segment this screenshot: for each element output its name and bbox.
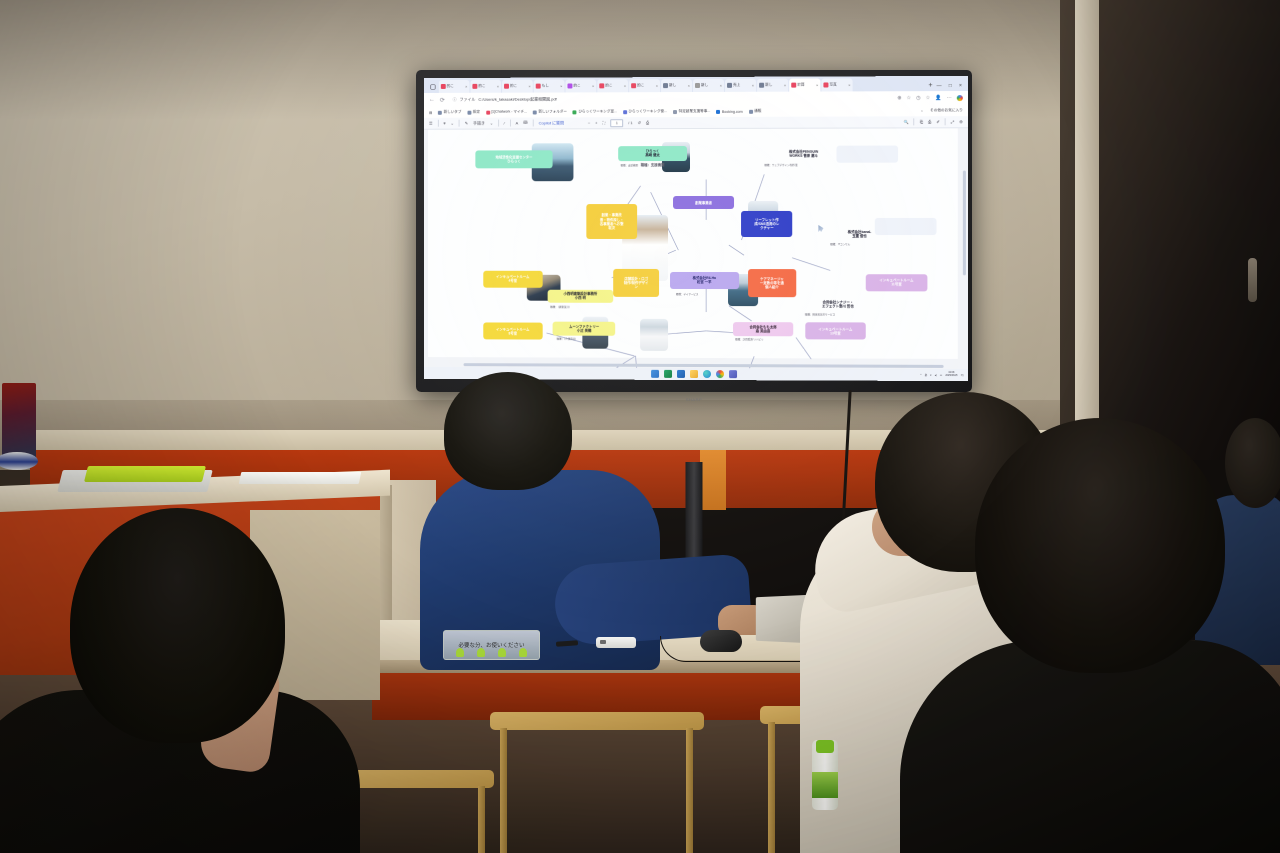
omnibar-actions: ⊕ ☆ ◷ ☆ 👤 ⋯ <box>897 95 963 101</box>
bookmark-label: 特定創業支援等事... <box>679 109 711 114</box>
bookmark-label: 新しいタブ <box>444 110 462 115</box>
explorer-icon[interactable] <box>690 370 698 378</box>
tab-favicon <box>472 84 477 89</box>
bottle-cap <box>816 740 834 753</box>
zoom-icon[interactable]: ⊕ <box>897 95 901 101</box>
diagram-node-faded-1 <box>837 145 898 162</box>
bookmark-item[interactable]: 設定 <box>467 110 480 115</box>
tab-close-icon[interactable]: × <box>465 84 467 89</box>
audience-left-head <box>70 508 285 743</box>
address-bar[interactable]: ⓘ ファイル C:/Users/k_takasaki/Desktop/起業相関図… <box>449 93 893 105</box>
remote-button[interactable] <box>600 640 606 644</box>
browser-tabs: 的こ×的こ×的こ×もし×的こ×的こ×的こ×新し×新し×売上×新し×計算×写真× <box>439 78 924 93</box>
teams-icon[interactable] <box>729 370 737 378</box>
tv-brand-mark: SHARP <box>686 397 702 402</box>
presenter-remote[interactable] <box>596 637 636 648</box>
bookmark-item[interactable]: ひらっくワーキング室... <box>573 109 617 114</box>
print-page-icon[interactable]: ⎙ <box>928 119 931 124</box>
browser-tab[interactable]: 的こ× <box>439 80 470 93</box>
window-controls: — □ × <box>937 83 968 91</box>
flyer-stand <box>2 383 36 461</box>
rotate-icon[interactable]: ↺ <box>638 120 641 125</box>
diagram-node-leaflet: リーフレット作 成/SNS活用のレ クチャー <box>742 211 793 237</box>
start-icon[interactable] <box>651 370 659 378</box>
tab-close-icon[interactable]: × <box>688 83 690 88</box>
tv-bezel: 的こ×的こ×的こ×もし×的こ×的こ×的こ×新し×新し×売上×新し×計算×写真× … <box>416 70 972 392</box>
search-icon[interactable]: 🔍 <box>904 119 909 124</box>
diagram-node-penguin-works: 株式会社PENGUIN WORKS 菅原 遼斗 <box>764 147 843 160</box>
toolbar-divider <box>945 118 946 125</box>
diagram-node-incubate-8: インキュベートルーム 8号室 <box>483 323 543 340</box>
tissue-item <box>477 648 485 657</box>
bookmark-item[interactable]: 通販 <box>749 109 762 114</box>
file-scheme-label: ファイル <box>460 97 476 103</box>
diagram-node-momotaro: 合同会社もも太郎 森 美由喜 <box>733 322 794 336</box>
chair-back <box>490 712 704 730</box>
tab-close-icon[interactable]: × <box>848 82 850 87</box>
edge-icon[interactable] <box>703 370 711 378</box>
pdf-vertical-scrollbar[interactable] <box>963 171 966 276</box>
reload-icon[interactable]: ⟳ <box>440 96 445 103</box>
tissue-item <box>498 648 506 657</box>
toolbar-divider <box>914 118 915 125</box>
browser-tab[interactable]: 的こ× <box>565 79 596 92</box>
tab-favicon <box>567 83 572 88</box>
system-tray: ^ あ ▾ ◂) ▭ 19:06 2025/06/25 🗨 <box>920 372 964 378</box>
chair-leg <box>686 728 693 853</box>
browser-tab[interactable]: 新し× <box>757 79 788 92</box>
bookmark-favicon <box>573 110 577 114</box>
browser-tab[interactable]: もし× <box>534 80 565 93</box>
bookmarks-right: › その他のお気に入り <box>921 108 963 113</box>
maximize-button[interactable]: □ <box>949 83 952 89</box>
save-icon[interactable]: ⎗ <box>920 119 923 124</box>
annotate-icon[interactable]: ✐ <box>936 119 939 124</box>
chevron-down-icon[interactable]: ⌄ <box>490 121 493 126</box>
chevron-down-icon[interactable]: ⌄ <box>451 121 454 126</box>
back-icon[interactable]: ← <box>429 96 435 103</box>
diagram-node-synergy: 合同会社シナジー・ エフェクト野川 哲也 <box>805 297 871 310</box>
taskbar-clock[interactable]: 19:06 2025/06/25 <box>945 372 957 378</box>
tab-label: 的こ <box>573 83 591 88</box>
bookmark-item[interactable]: [1]Chatwork - マイチ... <box>486 110 527 115</box>
browser-tab[interactable]: 的こ× <box>629 79 660 92</box>
doorway <box>1099 0 1280 460</box>
bookmark-label: 新しいフォルダー <box>538 109 567 114</box>
file-info-icon: ⓘ <box>453 97 457 103</box>
browser-tab[interactable]: 的こ× <box>502 80 533 93</box>
browser-tab[interactable]: 計算× <box>789 78 820 91</box>
tissue-item <box>519 648 527 657</box>
tab-close-icon[interactable]: × <box>624 83 626 88</box>
chair-leg <box>768 722 775 853</box>
bookmark-item[interactable]: 特定創業支援等事... <box>673 109 710 114</box>
bottle-label <box>812 772 838 798</box>
bookmarks-apps-icon[interactable]: ▤ <box>429 110 432 114</box>
bookmark-label: Booking.com <box>722 109 743 113</box>
ime-indicator[interactable]: あ <box>925 373 928 377</box>
bookmark-favicon <box>533 110 537 114</box>
tab-close-icon[interactable]: × <box>497 84 499 89</box>
tab-label: 的こ <box>605 83 623 88</box>
address-url: C:/Users/k_takasaki/Desktop/起業相関図.pdf <box>478 96 556 102</box>
tab-label: 新し <box>701 83 719 88</box>
bookmark-favicon <box>623 110 627 114</box>
diagram-caption: 職種：ウェブデザイン/制作業 <box>764 162 797 166</box>
tab-label: もし <box>542 84 560 89</box>
bookmark-item[interactable]: 新しいタブ <box>438 110 461 115</box>
tab-favicon <box>631 83 636 88</box>
toolbar-divider <box>498 120 499 127</box>
relationship-diagram: 地域活性化支援センター ひらっくひらっく 髙崎 健太職種：支援機関創業・事業改 … <box>428 128 958 359</box>
select-icon[interactable]: ⌖ <box>443 121 445 126</box>
tab-label: 計算 <box>797 83 815 88</box>
excel-icon[interactable] <box>664 370 672 378</box>
toolbar-divider <box>533 119 534 126</box>
tab-favicon <box>759 83 764 88</box>
highlight-icon[interactable]: ⁄ <box>504 121 505 126</box>
other-bookmarks-folder[interactable]: その他のお気に入り <box>929 108 963 113</box>
page-total-label: / 1 <box>628 120 632 125</box>
bookmark-item[interactable]: ひらっくワーキング使... <box>623 109 667 114</box>
diagram-caption: 職種：支援機関 <box>620 163 637 167</box>
draw-icon[interactable]: ✎ <box>465 121 468 126</box>
tab-label: 新し <box>669 83 687 88</box>
tab-label: 的こ <box>447 84 464 89</box>
diagram-node-logo-design: 店舗設計・ロゴ 制作/制作デザイ ン <box>613 269 660 297</box>
diagram-node-moon-factory: ムーンファクトリー 小辻 美穂 <box>553 322 616 336</box>
diagram-node-incubate-4: インキュベートルーム 4号室 <box>483 271 543 288</box>
bookmark-favicon <box>486 110 490 114</box>
browser-tab[interactable]: 写真× <box>821 78 852 91</box>
tab-favicon <box>536 84 541 89</box>
pdf-page: 地域活性化支援センター ひらっくひらっく 髙崎 健太職種：支援機関創業・事業改 … <box>428 128 958 359</box>
diagram-node-konishi: 小西明建築設計事務所 小西 明 <box>548 290 613 303</box>
tab-favicon <box>791 83 796 88</box>
tab-close-icon[interactable]: × <box>784 83 786 88</box>
diagram-caption: 職種：ITコンサル <box>830 242 850 246</box>
tissue-contents <box>450 648 533 657</box>
bookmark-star-icon[interactable]: ☆ <box>907 95 912 101</box>
collections-icon[interactable]: ◷ <box>916 95 920 101</box>
diagram-node-care-manager: ケアマネージャ 一定数の等を通 個人紹介 <box>748 269 796 297</box>
ledge-pillar <box>700 450 726 510</box>
tab-favicon <box>727 83 732 88</box>
diagram-node-hirakku-person: ひらっく 髙崎 健太 <box>618 146 687 161</box>
browser-tab[interactable]: 新し× <box>661 79 692 92</box>
browser-tab[interactable]: 的こ× <box>597 79 628 92</box>
presenter-head <box>444 372 572 490</box>
draw-label[interactable]: 手描き <box>473 120 485 126</box>
diagram-node-incubate-13: インキュベートルーム 13号室 <box>805 323 866 340</box>
diagram-caption: 職種：（介護用品） <box>557 337 578 341</box>
clock-date: 2025/06/25 <box>945 375 957 378</box>
bookmark-label: [1]Chatwork - マイチ... <box>491 110 527 115</box>
tab-close-icon[interactable]: × <box>560 84 562 89</box>
tab-label: 写真 <box>829 82 847 87</box>
tab-close-icon[interactable]: × <box>592 83 594 88</box>
bookmark-item[interactable]: Booking.com <box>716 109 742 113</box>
diagram-node-souki-consult: 創業・事業改 善・物件探し・ 各事業者へお繋 取次 <box>587 204 637 239</box>
tab-favicon <box>599 83 604 88</box>
chair-leg <box>478 786 485 853</box>
tab-close-icon[interactable]: × <box>752 83 754 88</box>
settings-icon[interactable]: ⚙ <box>959 119 963 124</box>
other-bookmarks-label: その他のお気に入り <box>930 108 963 113</box>
minimize-button[interactable]: — <box>937 83 942 89</box>
nav-buttons: ← ⟳ <box>429 96 445 103</box>
tab-favicon <box>441 84 446 89</box>
diagram-caption: 職種：デイサービス <box>676 292 699 296</box>
tab-favicon <box>663 83 668 88</box>
audience-right-head <box>975 418 1225 673</box>
presentation-display: 的こ×的こ×的こ×もし×的こ×的こ×的こ×新し×新し×売上×新し×計算×写真× … <box>416 70 972 392</box>
notification-icon[interactable]: 🗨 <box>961 374 964 377</box>
bookmark-label: 通販 <box>754 109 761 114</box>
read-aloud-icon[interactable]: 🕮 <box>523 119 528 126</box>
tab-close-icon[interactable]: × <box>720 83 722 88</box>
door-handle <box>1248 258 1257 302</box>
favorites-icon[interactable]: ☆ <box>926 95 931 101</box>
bookmark-items: 新しいタブ設定[1]Chatwork - マイチ...新しいフォルダーひらっくワ… <box>438 108 915 115</box>
browser-tab[interactable]: 的こ× <box>470 80 501 93</box>
bookmark-label: ひらっくワーキング使... <box>628 109 667 114</box>
word-icon[interactable] <box>677 370 685 378</box>
photo-momotaro <box>640 319 668 351</box>
fit-page-icon[interactable]: ⛶ <box>603 120 606 125</box>
profile-avatar-icon[interactable]: 👤 <box>935 95 941 101</box>
toolbar-divider <box>510 120 511 127</box>
tissue-box: 必要な分、お使いください <box>443 630 540 660</box>
tab-label: 売上 <box>733 83 751 88</box>
diagram-node-incubate-11: インキュベートルーム 11号室 <box>866 274 927 291</box>
tab-label: 的こ <box>637 83 655 88</box>
tab-search-icon[interactable] <box>427 81 438 92</box>
zoom-in-button[interactable]: + <box>595 120 597 125</box>
copilot-ask-button[interactable]: Copilot に質問 <box>539 120 564 126</box>
chrome-icon[interactable] <box>716 370 724 378</box>
text-icon[interactable]: A <box>516 121 519 126</box>
bookmark-favicon <box>438 110 442 114</box>
tissue-item <box>456 648 464 657</box>
fullscreen-icon[interactable]: ⤢ <box>951 119 954 124</box>
bookmark-item[interactable]: 新しいフォルダー <box>533 109 567 114</box>
tv-screen: 的こ×的こ×的こ×もし×的こ×的こ×的こ×新し×新し×売上×新し×計算×写真× … <box>424 76 968 381</box>
water-bottle <box>812 740 838 810</box>
wifi-icon[interactable]: ▾ <box>930 373 931 376</box>
diagram-node-founder: 創業事業者 <box>673 196 734 209</box>
print-icon[interactable]: ⎙ <box>646 120 649 125</box>
browser-tab[interactable]: 売上× <box>725 79 756 92</box>
diagram-node-hirakku-center: 地域活性化支援センター ひらっく <box>475 150 552 169</box>
pdf-viewport[interactable]: 地域活性化支援センター ひらっくひらっく 髙崎 健太職種：支援機関創業・事業改 … <box>424 128 968 369</box>
tab-close-icon[interactable]: × <box>528 84 530 89</box>
diagram-node-rilha: 株式会社RiLHa 松宮 一平 <box>670 272 739 289</box>
close-button[interactable]: × <box>959 83 962 89</box>
tab-favicon <box>504 84 509 89</box>
bookmark-favicon <box>673 110 677 114</box>
tab-favicon <box>695 83 700 88</box>
tab-label: 的こ <box>510 84 527 89</box>
bookmark-favicon <box>716 109 720 113</box>
browser-tab[interactable]: 新し× <box>693 79 724 92</box>
tab-close-icon[interactable]: × <box>816 83 818 88</box>
more-menu-icon[interactable]: ⋯ <box>947 95 952 101</box>
volume-icon[interactable]: ◂) <box>935 373 937 376</box>
bookmark-favicon <box>749 109 753 113</box>
battery-icon[interactable]: ▭ <box>940 373 942 376</box>
diagram-caption: 職種：（建築設計） <box>550 304 571 308</box>
green-folder <box>84 466 206 482</box>
diagram-node-faded-2 <box>875 218 936 235</box>
diagram-caption: 職種：障害者就労サービス <box>805 312 835 316</box>
browser-window: 的こ×的こ×的こ×もし×的こ×的こ×的こ×新し×新し×売上×新し×計算×写真× … <box>424 76 968 381</box>
meeting-room-scene: 的こ×的こ×的こ×もし×的こ×的こ×的こ×新し×新し×売上×新し×計算×写真× … <box>0 0 1280 853</box>
pdf-toolbar-right: 🔍 ⎗ ⎙ ✐ ⤢ ⚙ <box>904 118 963 125</box>
diagram-caption: 職種：訪問看護/リハビリ <box>735 337 763 341</box>
browser-logo-icon <box>957 95 963 101</box>
tray-chevron-icon[interactable]: ^ <box>920 373 921 376</box>
bookmark-label: 設定 <box>473 110 480 115</box>
browser-tabstrip: 的こ×的こ×的こ×もし×的こ×的こ×的こ×新し×新し×売上×新し×計算×写真× … <box>424 76 968 93</box>
paper-stack <box>239 472 362 484</box>
tab-favicon <box>823 82 828 87</box>
tab-label: 新し <box>765 83 783 88</box>
bookmark-favicon <box>467 110 471 114</box>
bookmarks-overflow-button[interactable]: › <box>921 109 922 113</box>
toolbar-divider <box>437 120 438 127</box>
toolbar-divider <box>459 120 460 127</box>
sidebar-icon[interactable]: ☰ <box>429 121 433 126</box>
tab-label: 的こ <box>478 84 495 89</box>
audience-far-right-head <box>1225 418 1280 508</box>
door-frame <box>1075 0 1099 455</box>
tab-close-icon[interactable]: × <box>656 83 658 88</box>
bookmark-label: ひらっくワーキング室... <box>578 109 617 114</box>
chair-leg <box>500 728 507 853</box>
zoom-out-button[interactable]: − <box>588 120 590 125</box>
page-number-input[interactable]: 1 <box>610 119 623 127</box>
new-tab-button[interactable]: + <box>925 82 935 89</box>
